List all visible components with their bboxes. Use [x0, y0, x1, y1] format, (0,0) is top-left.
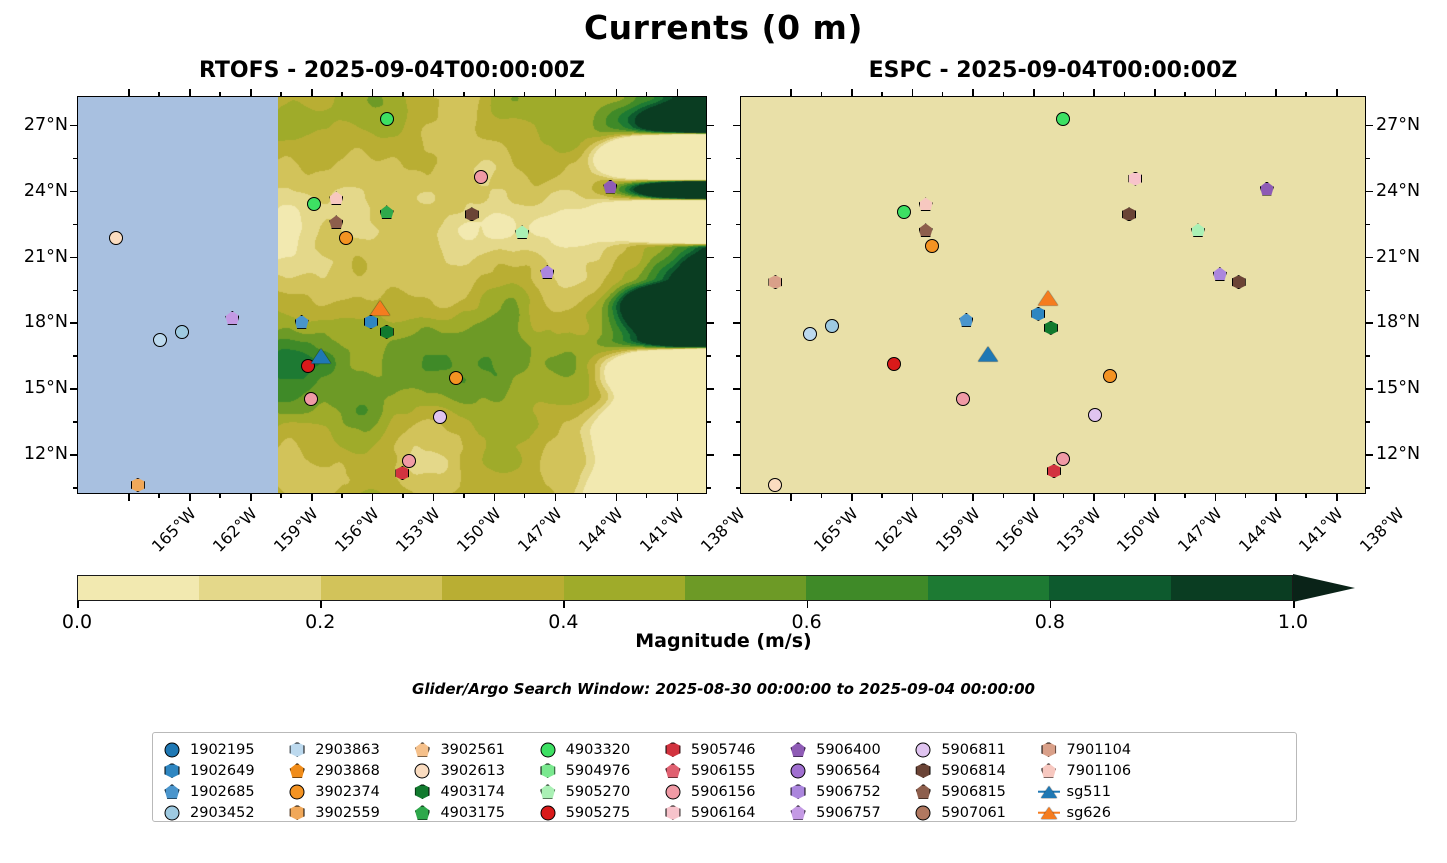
platform-marker[interactable]: [515, 225, 529, 239]
legend-marker: [1038, 741, 1060, 759]
legend-item[interactable]: 5906155: [662, 760, 787, 781]
legend-label: 1902195: [190, 742, 255, 758]
marker-circle: [897, 205, 911, 219]
x-tick-label: 159°W: [932, 504, 984, 556]
x-tick: [790, 89, 792, 96]
legend-item[interactable]: 3902613: [411, 760, 536, 781]
marker-pent: [540, 784, 555, 799]
legend-marker: [662, 804, 684, 822]
platform-marker[interactable]: [1260, 182, 1274, 196]
y-tick-minor: [707, 158, 711, 159]
marker-circle: [1088, 408, 1102, 422]
marker-pent: [415, 742, 430, 757]
platform-marker[interactable]: [339, 231, 353, 245]
legend-marker: [411, 804, 433, 822]
legend-marker: [1038, 804, 1060, 822]
colorbar-segment-4: [564, 576, 685, 600]
legend-marker: [912, 804, 934, 822]
legend-marker: [161, 804, 183, 822]
colorbar-segment-7: [928, 576, 1049, 600]
legend-label: 3902561: [440, 742, 505, 758]
x-tick-minor: [341, 92, 342, 96]
x-tick: [250, 89, 252, 96]
legend-marker: [912, 741, 934, 759]
x-tick-label: 138°W: [1356, 504, 1408, 556]
x-tick: [1093, 494, 1095, 501]
y-tick-label: 24°N: [1376, 181, 1420, 201]
colorbar-segment-6: [806, 576, 927, 600]
legend-item[interactable]: 5906757: [787, 802, 912, 823]
y-tick-minor: [707, 290, 711, 291]
platform-marker[interactable]: [768, 275, 782, 289]
x-tick-minor: [942, 92, 943, 96]
platform-marker[interactable]: [380, 205, 394, 219]
colorbar-tick: [1050, 601, 1052, 608]
legend-label: 5906811: [941, 742, 1006, 758]
x-tick: [1033, 494, 1035, 501]
map-panel-espc[interactable]: [740, 96, 1366, 494]
platform-marker[interactable]: [1128, 172, 1142, 186]
y-tick: [1366, 257, 1373, 259]
x-tick-minor: [1305, 92, 1306, 96]
platform-marker[interactable]: [956, 392, 970, 406]
x-tick-minor: [524, 92, 525, 96]
legend-item[interactable]: 5906814: [912, 760, 1037, 781]
colorbar-tick: [320, 601, 322, 608]
x-tick-label: 147°W: [514, 504, 566, 556]
legend-marker: [537, 762, 559, 780]
legend-label: 5906164: [691, 805, 756, 821]
platform-marker[interactable]: [307, 197, 321, 211]
platform-marker[interactable]: [109, 231, 123, 245]
legend-marker: [787, 783, 809, 801]
marker-pent: [916, 784, 931, 799]
x-tick-label: 138°W: [696, 504, 748, 556]
legend-item[interactable]: 5906752: [787, 781, 912, 802]
x-tick: [1275, 89, 1277, 96]
y-tick-minor: [707, 487, 711, 488]
x-tick: [433, 89, 435, 96]
marker-circle: [433, 410, 447, 424]
x-tick-minor: [341, 494, 342, 498]
marker-hex: [290, 742, 305, 757]
x-tick-minor: [219, 494, 220, 498]
platform-marker[interactable]: [540, 265, 554, 279]
x-tick: [1154, 494, 1156, 501]
legend-label: 7901104: [1067, 742, 1132, 758]
platform-marker[interactable]: [1038, 290, 1058, 305]
y-tick-minor: [1366, 224, 1370, 225]
x-tick-minor: [585, 494, 586, 498]
legend-marker: [1038, 762, 1060, 780]
platform-marker[interactable]: [768, 478, 782, 492]
platform-marker[interactable]: [1191, 223, 1205, 237]
legend-item[interactable]: 4903174: [411, 781, 536, 802]
legend-item[interactable]: 5906564: [787, 760, 912, 781]
y-tick: [70, 257, 77, 259]
legend-item[interactable]: 4903175: [411, 802, 536, 823]
platform-marker[interactable]: [897, 205, 911, 219]
marker-circle: [415, 763, 430, 778]
y-tick: [70, 191, 77, 193]
x-tick-label: 141°W: [635, 504, 687, 556]
legend-item[interactable]: 1902195: [161, 739, 286, 760]
x-tick: [1154, 89, 1156, 96]
platform-marker[interactable]: [1047, 464, 1061, 478]
marker-hex: [1122, 207, 1136, 221]
x-tick-label: 141°W: [1295, 504, 1347, 556]
x-tick-label: 144°W: [574, 504, 626, 556]
y-tick-minor: [73, 290, 77, 291]
legend-marker: [662, 741, 684, 759]
y-tick-minor: [1366, 487, 1370, 488]
legend-item[interactable]: 5906815: [912, 781, 1037, 802]
x-tick: [555, 494, 557, 501]
marker-hex: [1047, 464, 1061, 478]
x-tick: [189, 494, 191, 501]
legend-item[interactable]: 1902649: [161, 760, 286, 781]
x-tick: [972, 494, 974, 501]
colorbar-segment-2: [321, 576, 442, 600]
legend-item[interactable]: 3902374: [286, 781, 411, 802]
legend-label: 2903868: [315, 763, 380, 779]
marker-tri: [978, 346, 998, 361]
platform-marker[interactable]: [474, 170, 488, 184]
x-tick-minor: [524, 494, 525, 498]
y-tick: [1366, 322, 1373, 324]
marker-pent: [380, 205, 394, 219]
marker-pent: [1260, 182, 1274, 196]
x-tick-minor: [280, 494, 281, 498]
marker-pent: [919, 223, 933, 237]
x-tick-minor: [402, 92, 403, 96]
legend-label: 5906564: [816, 763, 881, 779]
platform-marker[interactable]: [433, 410, 447, 424]
platform-marker[interactable]: [1213, 267, 1227, 281]
platform-marker[interactable]: [1031, 307, 1045, 321]
legend-marker: [1038, 783, 1060, 801]
legend-marker: [537, 804, 559, 822]
legend-item[interactable]: 5905270: [537, 781, 662, 802]
platform-marker[interactable]: [1044, 321, 1058, 335]
platform-marker[interactable]: [1103, 369, 1117, 383]
legend-label: 5904976: [566, 763, 631, 779]
platform-marker[interactable]: [395, 466, 409, 480]
legend-label: 7901106: [1067, 763, 1132, 779]
platform-marker[interactable]: [919, 197, 933, 211]
y-tick: [733, 191, 740, 193]
platform-marker[interactable]: [803, 327, 817, 341]
x-tick-label: 162°W: [209, 504, 261, 556]
marker-pent: [329, 191, 343, 205]
y-tick-minor: [73, 158, 77, 159]
platform-marker[interactable]: [1056, 112, 1070, 126]
legend-marker: [787, 804, 809, 822]
legend-item[interactable]: 5906811: [912, 739, 1037, 760]
y-tick-minor: [73, 421, 77, 422]
map-panel-rtofs[interactable]: [77, 96, 707, 494]
y-tick: [733, 388, 740, 390]
platform-marker[interactable]: [925, 239, 939, 253]
platform-marker[interactable]: [978, 346, 998, 361]
marker-circle: [1103, 369, 1117, 383]
platform-marker[interactable]: [311, 348, 331, 363]
x-tick-minor: [881, 494, 882, 498]
x-tick: [1093, 89, 1095, 96]
marker-hex: [465, 207, 479, 221]
platform-marker[interactable]: [295, 315, 309, 329]
x-tick: [616, 89, 618, 96]
marker-hex: [364, 315, 378, 329]
legend-marker: [161, 741, 183, 759]
platform-marker[interactable]: [153, 333, 167, 347]
colorbar-tick: [807, 601, 809, 608]
y-tick-minor: [1366, 421, 1370, 422]
legend-item[interactable]: 5905746: [662, 739, 787, 760]
marker-pent: [165, 784, 180, 799]
x-tick-minor: [1184, 494, 1185, 498]
marker-pent: [665, 763, 680, 778]
legend-item[interactable]: 1902685: [161, 781, 286, 802]
legend-label: 5906155: [691, 763, 756, 779]
platform-marker[interactable]: [603, 180, 617, 194]
y-tick: [70, 388, 77, 390]
x-tick: [372, 89, 374, 96]
platform-marker[interactable]: [465, 207, 479, 221]
marker-tri: [370, 300, 390, 315]
y-tick-minor: [707, 421, 711, 422]
platform-marker[interactable]: [825, 319, 839, 333]
x-tick: [372, 494, 374, 501]
colorbar-label: Magnitude (m/s): [0, 630, 1447, 652]
legend-label: sg511: [1067, 784, 1111, 800]
platform-marker[interactable]: [131, 478, 145, 492]
x-tick: [1215, 89, 1217, 96]
marker-hex: [395, 466, 409, 480]
marker-circle: [339, 231, 353, 245]
y-tick: [733, 322, 740, 324]
legend-label: 5905270: [566, 784, 631, 800]
legend-item[interactable]: 5906164: [662, 802, 787, 823]
x-tick-minor: [463, 92, 464, 96]
platform-marker[interactable]: [887, 357, 901, 371]
x-tick-label: 147°W: [1174, 504, 1226, 556]
marker-circle: [540, 805, 555, 820]
marker-hex: [131, 478, 145, 492]
x-tick-minor: [1245, 494, 1246, 498]
marker-hex: [1044, 321, 1058, 335]
platform-marker[interactable]: [449, 371, 463, 385]
x-tick-minor: [158, 92, 159, 96]
marker-hex: [768, 275, 782, 289]
legend-item[interactable]: 5907061: [912, 802, 1037, 823]
marker-circle: [825, 319, 839, 333]
legend-item[interactable]: 7901104: [1038, 739, 1163, 760]
x-tick-label: 165°W: [148, 504, 200, 556]
legend-marker: [411, 741, 433, 759]
legend-item[interactable]: 5906400: [787, 739, 912, 760]
y-tick: [707, 322, 714, 324]
x-tick: [851, 494, 853, 501]
legend-item[interactable]: 5905275: [537, 802, 662, 823]
marker-circle: [165, 742, 180, 757]
y-tick-minor: [707, 224, 711, 225]
legend-marker: [286, 762, 308, 780]
colorbar-segment-5: [685, 576, 806, 600]
y-tick: [707, 454, 714, 456]
x-tick-label: 156°W: [992, 504, 1044, 556]
x-tick-label: 165°W: [810, 504, 862, 556]
legend-item[interactable]: sg626: [1038, 802, 1163, 823]
platform-marker[interactable]: [1122, 207, 1136, 221]
marker-pent: [295, 315, 309, 329]
y-tick-label: 12°N: [1376, 444, 1420, 464]
platform-marker[interactable]: [380, 112, 394, 126]
marker-circle: [803, 327, 817, 341]
x-tick-label: 150°W: [453, 504, 505, 556]
y-tick-label: 18°N: [1376, 312, 1420, 332]
x-tick-minor: [219, 92, 220, 96]
platform-marker[interactable]: [370, 300, 390, 315]
colorbar-segment-9: [1171, 576, 1292, 600]
x-tick: [189, 89, 191, 96]
platform-marker[interactable]: [329, 215, 343, 229]
colorbar-segment-0: [78, 576, 199, 600]
y-tick: [733, 454, 740, 456]
x-tick-minor: [158, 494, 159, 498]
legend-marker: [286, 804, 308, 822]
legend-marker: [537, 783, 559, 801]
legend-item[interactable]: 5904976: [537, 760, 662, 781]
legend-item[interactable]: 2903452: [161, 802, 286, 823]
platform-marker[interactable]: [1232, 275, 1246, 289]
legend-item[interactable]: 3902561: [411, 739, 536, 760]
platform-marker[interactable]: [364, 315, 378, 329]
x-tick: [128, 89, 130, 96]
platform-marker[interactable]: [1088, 408, 1102, 422]
panel-title-left: RTOFS - 2025-09-04T00:00:00Z: [77, 58, 707, 83]
platform-marker[interactable]: [329, 191, 343, 205]
marker-pent: [329, 215, 343, 229]
platform-marker[interactable]: [175, 325, 189, 339]
no-data-region: [78, 97, 278, 493]
x-tick: [912, 494, 914, 501]
y-tick-label: 27°N: [1376, 115, 1420, 135]
y-tick-minor: [1366, 290, 1370, 291]
marker-hex: [1041, 742, 1056, 757]
y-tick: [70, 125, 77, 127]
legend-label: 1902649: [190, 763, 255, 779]
marker-circle: [153, 333, 167, 347]
legend-label: 3902374: [315, 784, 380, 800]
x-tick-label: 162°W: [871, 504, 923, 556]
marker-circle: [768, 478, 782, 492]
legend-marker: [161, 762, 183, 780]
x-tick-minor: [1063, 494, 1064, 498]
y-tick-minor: [736, 224, 740, 225]
x-tick: [972, 89, 974, 96]
legend-marker: [537, 741, 559, 759]
platform-marker[interactable]: [225, 311, 239, 325]
legend-label: 4903320: [566, 742, 631, 758]
panel-title-right: ESPC - 2025-09-04T00:00:00Z: [740, 58, 1366, 83]
y-tick: [1366, 191, 1373, 193]
x-tick: [555, 89, 557, 96]
y-tick-label: 18°N: [0, 312, 68, 332]
platform-marker[interactable]: [304, 392, 318, 406]
legend-item[interactable]: 2903868: [286, 760, 411, 781]
legend-marker: [411, 762, 433, 780]
legend-item[interactable]: sg511: [1038, 781, 1163, 802]
marker-tri: [1038, 290, 1058, 305]
colorbar-gradient: [77, 575, 1293, 601]
legend-item[interactable]: 3902559: [286, 802, 411, 823]
x-tick-label: 156°W: [331, 504, 383, 556]
marker-tri: [1041, 786, 1057, 798]
marker-hex: [916, 763, 931, 778]
legend-item[interactable]: 4903320: [537, 739, 662, 760]
x-tick-label: 144°W: [1234, 504, 1286, 556]
platform-legend: 1902195190264919026852903452290386329038…: [152, 732, 1297, 822]
legend-item[interactable]: 2903863: [286, 739, 411, 760]
marker-circle: [449, 371, 463, 385]
legend-marker: [912, 783, 934, 801]
marker-hex: [791, 784, 806, 799]
legend-marker: [787, 741, 809, 759]
marker-hex: [290, 805, 305, 820]
platform-marker[interactable]: [919, 223, 933, 237]
y-tick-minor: [73, 487, 77, 488]
marker-circle: [165, 805, 180, 820]
legend-item[interactable]: 5906156: [662, 781, 787, 802]
marker-circle: [1056, 112, 1070, 126]
x-tick-minor: [821, 494, 822, 498]
legend-label: 5905746: [691, 742, 756, 758]
marker-hex: [165, 763, 180, 778]
legend-marker: [161, 783, 183, 801]
x-tick: [1336, 494, 1338, 501]
y-tick: [1366, 125, 1373, 127]
y-tick-minor: [707, 355, 711, 356]
x-tick: [1336, 89, 1338, 96]
y-tick-label: 24°N: [0, 181, 68, 201]
legend-grid: 1902195190264919026852903452290386329038…: [161, 739, 1288, 815]
marker-circle: [665, 784, 680, 799]
y-tick: [733, 257, 740, 259]
legend-item[interactable]: 7901106: [1038, 760, 1163, 781]
x-tick-minor: [646, 494, 647, 498]
marker-circle: [916, 805, 931, 820]
x-tick-minor: [821, 92, 822, 96]
marker-pent: [791, 805, 806, 820]
marker-circle: [307, 197, 321, 211]
platform-marker[interactable]: [380, 325, 394, 339]
x-tick: [494, 89, 496, 96]
y-tick-label: 12°N: [0, 444, 68, 464]
platform-marker[interactable]: [959, 313, 973, 327]
x-tick-minor: [1063, 92, 1064, 96]
marker-pent: [540, 265, 554, 279]
marker-circle: [304, 392, 318, 406]
x-tick-minor: [1003, 92, 1004, 96]
marker-pent: [1191, 223, 1205, 237]
marker-hex: [1031, 307, 1045, 321]
y-tick: [1366, 388, 1373, 390]
y-tick: [707, 191, 714, 193]
marker-pent: [290, 763, 305, 778]
y-tick: [1366, 454, 1373, 456]
x-tick: [250, 494, 252, 501]
